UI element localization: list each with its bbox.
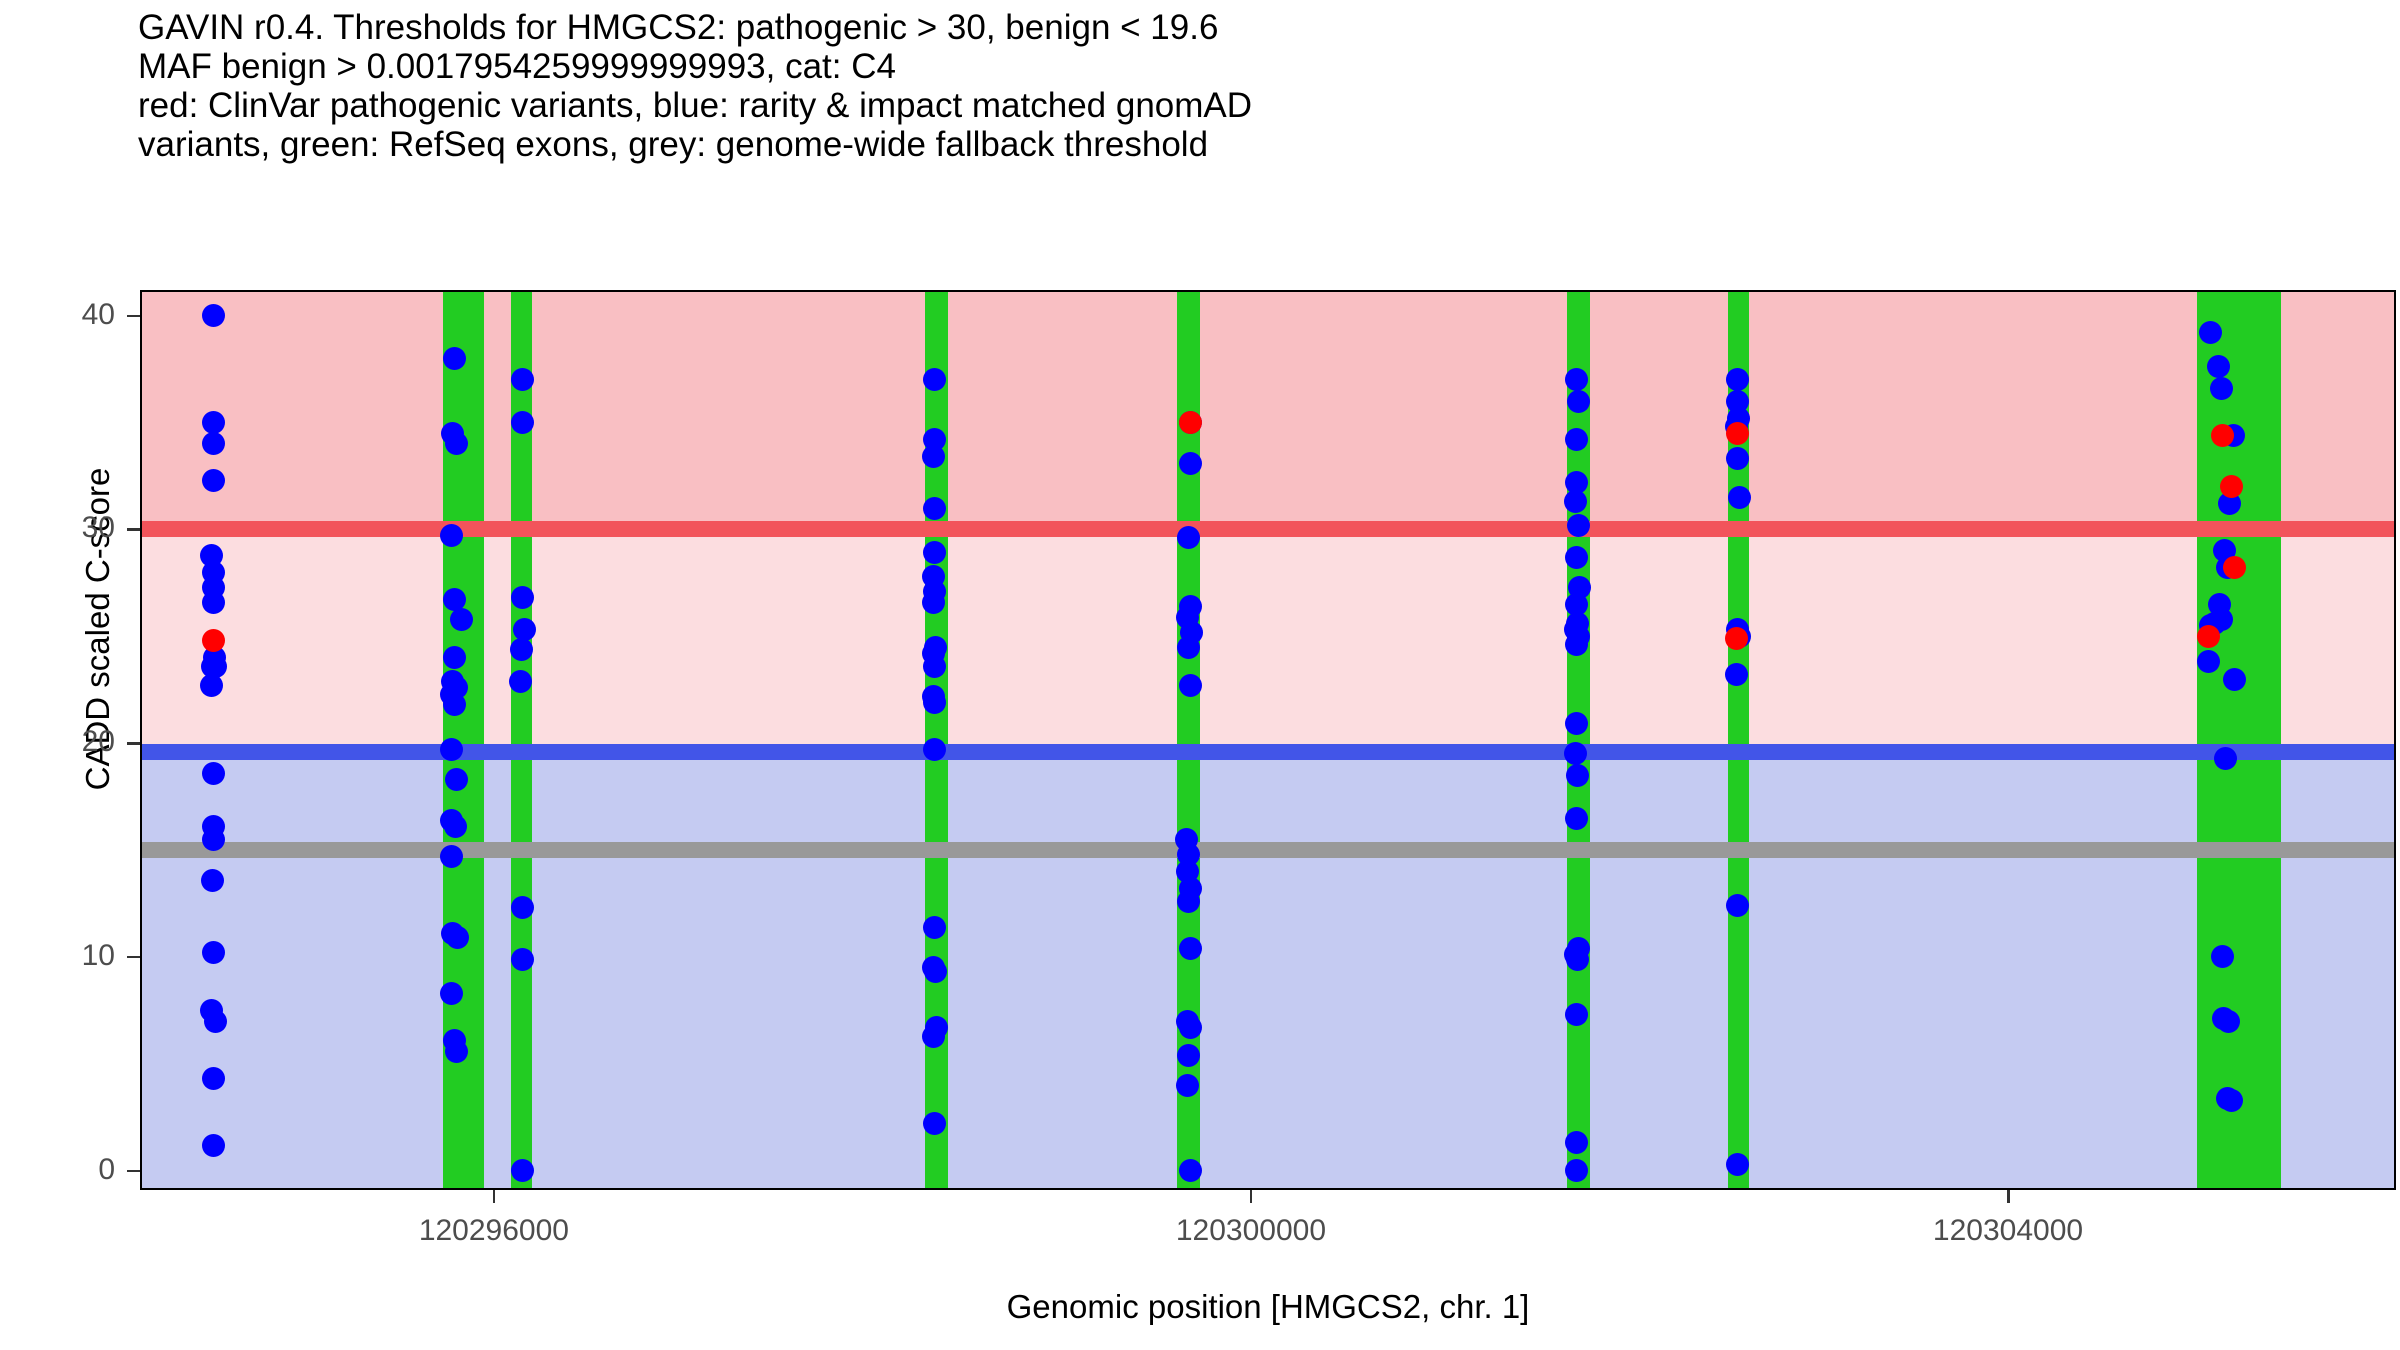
title-line-2: MAF benign > 0.0017954259999999993, cat:… [138, 47, 2238, 86]
gnomad-variant-point [202, 591, 225, 614]
gnomad-variant-point [1179, 452, 1202, 475]
clinvar-pathogenic-point [1179, 411, 1202, 434]
y-tick-mark [127, 956, 140, 959]
gnomad-variant-point [440, 524, 463, 547]
gnomad-variant-point [202, 1134, 225, 1157]
x-axis-title: Genomic position [HMGCS2, chr. 1] [140, 1288, 2396, 1326]
gnomad-variant-point [1728, 486, 1751, 509]
gnomad-variant-point [440, 738, 463, 761]
gnomad-variant-point [923, 497, 946, 520]
gnomad-variant-point [440, 982, 463, 1005]
gnomad-variant-point [2217, 1010, 2240, 1033]
clinvar-pathogenic-point [2223, 556, 2246, 579]
gnomad-variant-point [509, 670, 532, 693]
gnomad-variant-point [1179, 1159, 1202, 1182]
x-tick-label: 120300000 [1101, 1214, 1401, 1248]
gnomad-variant-point [923, 655, 946, 678]
fallback-threshold-line [140, 842, 2396, 858]
y-axis-title: CADD scaled C-score [79, 369, 117, 889]
title-line-1: GAVIN r0.4. Thresholds for HMGCS2: patho… [138, 8, 2238, 47]
gnomad-variant-point [443, 646, 466, 669]
gnomad-variant-point [1179, 937, 1202, 960]
gnomad-variant-point [2207, 355, 2230, 378]
x-tick-mark [493, 1190, 496, 1203]
y-tick-label: 10 [45, 939, 115, 973]
title-line-3: red: ClinVar pathogenic variants, blue: … [138, 86, 2238, 125]
gnomad-variant-point [1567, 514, 1590, 537]
gnomad-variant-point [1177, 1044, 1200, 1067]
gnomad-variant-point [1565, 428, 1588, 451]
gnomad-variant-point [2223, 668, 2246, 691]
plot-root: GAVIN r0.4. Thresholds for HMGCS2: patho… [0, 0, 2400, 1350]
clinvar-pathogenic-point [2197, 625, 2220, 648]
gnomad-variant-point [922, 591, 945, 614]
gnomad-variant-point [1567, 390, 1590, 413]
gnomad-variant-point [445, 432, 468, 455]
gnomad-variant-point [1726, 1153, 1749, 1176]
title-line-4: variants, green: RefSeq exons, grey: gen… [138, 125, 2238, 164]
gnomad-variant-point [1565, 546, 1588, 569]
gnomad-variant-point [443, 693, 466, 716]
y-tick-label: 0 [45, 1153, 115, 1187]
benign-threshold-line [140, 744, 2396, 760]
gnomad-variant-point [1179, 674, 1202, 697]
y-tick-label: 20 [45, 725, 115, 759]
gnomad-variant-point [511, 586, 534, 609]
gnomad-variant-point [450, 608, 473, 631]
gnomad-variant-point [2220, 1089, 2243, 1112]
clinvar-pathogenic-point [1725, 627, 1748, 650]
gnomad-variant-point [445, 768, 468, 791]
x-tick-label: 120296000 [344, 1214, 644, 1248]
gnomad-variant-point [923, 916, 946, 939]
y-tick-mark [127, 528, 140, 531]
plot-title-block: GAVIN r0.4. Thresholds for HMGCS2: patho… [138, 8, 2238, 164]
gnomad-variant-point [440, 845, 463, 868]
x-tick-label: 120304000 [1858, 1214, 2158, 1248]
plot-panel [140, 290, 2396, 1190]
gnomad-variant-point [510, 638, 533, 661]
gnomad-variant-point [202, 762, 225, 785]
gnomad-variant-point [511, 368, 534, 391]
gnomad-variant-point [1565, 807, 1588, 830]
pathogenic-threshold-line [140, 521, 2396, 537]
gnomad-variant-point [1176, 1074, 1199, 1097]
y-tick-mark [127, 315, 140, 318]
gnomad-variant-point [511, 896, 534, 919]
gnomad-variant-point [202, 469, 225, 492]
gnomad-variant-point [2214, 747, 2237, 770]
gnomad-variant-point [443, 347, 466, 370]
y-tick-label: 30 [45, 511, 115, 545]
gnomad-variant-point [204, 1010, 227, 1033]
clinvar-pathogenic-point [2220, 475, 2243, 498]
gnomad-variant-point [511, 411, 534, 434]
gnomad-variant-point [445, 1040, 468, 1063]
y-tick-label: 40 [45, 298, 115, 332]
gnomad-variant-point [511, 948, 534, 971]
y-tick-mark [127, 742, 140, 745]
gnomad-variant-point [922, 445, 945, 468]
gnomad-variant-point [1177, 636, 1200, 659]
y-tick-mark [127, 1170, 140, 1173]
gnomad-variant-point [1177, 890, 1200, 913]
refseq-exon-bar [1567, 290, 1590, 1190]
gnomad-variant-point [444, 815, 467, 838]
gnomad-variant-point [511, 1159, 534, 1182]
gnomad-variant-point [1726, 894, 1749, 917]
clinvar-pathogenic-point [1726, 422, 1749, 445]
x-tick-mark [1250, 1190, 1253, 1203]
gnomad-variant-point [1179, 1016, 1202, 1039]
gnomad-variant-point [1566, 764, 1589, 787]
gnomad-variant-point [1726, 368, 1749, 391]
x-tick-mark [2007, 1190, 2010, 1203]
gnomad-variant-point [1566, 948, 1589, 971]
gnomad-variant-point [201, 869, 224, 892]
